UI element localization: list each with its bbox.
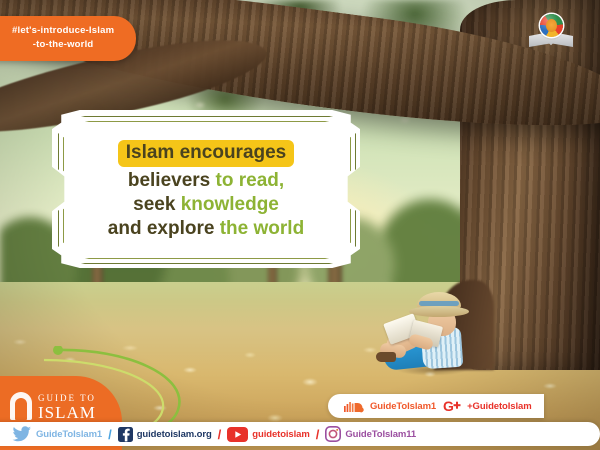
social-item-twitter[interactable]: GuideToIslam1 bbox=[12, 426, 102, 442]
quote-highlight: Islam encourages bbox=[118, 140, 295, 166]
hashtag-line-2: -to-the-world bbox=[12, 38, 114, 52]
svg-text:G: G bbox=[443, 399, 454, 413]
quote-line-4-green: the world bbox=[220, 218, 304, 239]
youtube-handle: guidetoislam bbox=[252, 429, 309, 440]
soundcloud-handle: GuideToIslam1 bbox=[370, 401, 436, 412]
soundcloud-icon bbox=[344, 400, 366, 413]
quote-line-2-dark: believers bbox=[128, 170, 210, 191]
social-item-youtube[interactable]: guidetoislam bbox=[227, 427, 309, 442]
mosque-arch-icon bbox=[10, 392, 32, 420]
globe-icon bbox=[540, 14, 563, 37]
separator: / bbox=[108, 427, 112, 442]
social-item-facebook[interactable]: guidetoislam.org bbox=[118, 427, 212, 442]
boy-reading-illustration bbox=[378, 292, 486, 378]
twitter-icon bbox=[12, 426, 32, 442]
hashtag-banner: #let's-introduce-Islam -to-the-world bbox=[0, 16, 136, 61]
quote-line-3-green: knowledge bbox=[181, 194, 279, 215]
quote-line-4: and explore the world bbox=[108, 218, 304, 239]
quote-line-2: believers to read, bbox=[128, 170, 284, 191]
youtube-icon bbox=[227, 427, 248, 442]
quote-text-block: Islam encourages believers to read, seek… bbox=[58, 120, 354, 260]
quote-line-3: seek knowledge bbox=[133, 194, 279, 215]
separator: / bbox=[218, 427, 222, 442]
poster-canvas: #let's-introduce-Islam -to-the-world Isl… bbox=[0, 0, 600, 450]
separator: / bbox=[316, 427, 320, 442]
boy-sandal bbox=[376, 352, 396, 362]
twitter-handle: GuideToIslam1 bbox=[36, 429, 102, 440]
social-item-googleplus[interactable]: G +GuidetoIslam bbox=[443, 399, 531, 413]
social-bar-bottom: GuideToIslam1 / guidetoislam.org / guide… bbox=[0, 422, 600, 446]
quote-line-3-dark: seek bbox=[133, 194, 175, 215]
googleplus-icon: G bbox=[443, 399, 463, 413]
quote-line-2-green: to read, bbox=[216, 170, 285, 191]
facebook-handle: guidetoislam.org bbox=[137, 429, 212, 440]
social-item-soundcloud[interactable]: GuideToIslam1 bbox=[344, 400, 436, 413]
guide-to-islam-emblem bbox=[529, 14, 573, 54]
instagram-handle: GuideToIslam11 bbox=[345, 429, 416, 440]
facebook-icon bbox=[118, 427, 133, 442]
brand-guide-text: GUIDE TO bbox=[38, 393, 96, 403]
social-item-instagram[interactable]: GuideToIslam11 bbox=[325, 426, 416, 442]
googleplus-handle: +GuidetoIslam bbox=[467, 401, 531, 412]
social-bar-top: GuideToIslam1 G +GuidetoIslam bbox=[328, 394, 544, 418]
instagram-icon bbox=[325, 426, 341, 442]
hashtag-line-1: #let's-introduce-Islam bbox=[12, 24, 114, 38]
quote-line-1: Islam encourages bbox=[118, 140, 295, 166]
quote-line-4-dark: and explore bbox=[108, 218, 215, 239]
hat-brim bbox=[409, 306, 469, 317]
brand-islam-text: ISLAM bbox=[38, 403, 96, 423]
